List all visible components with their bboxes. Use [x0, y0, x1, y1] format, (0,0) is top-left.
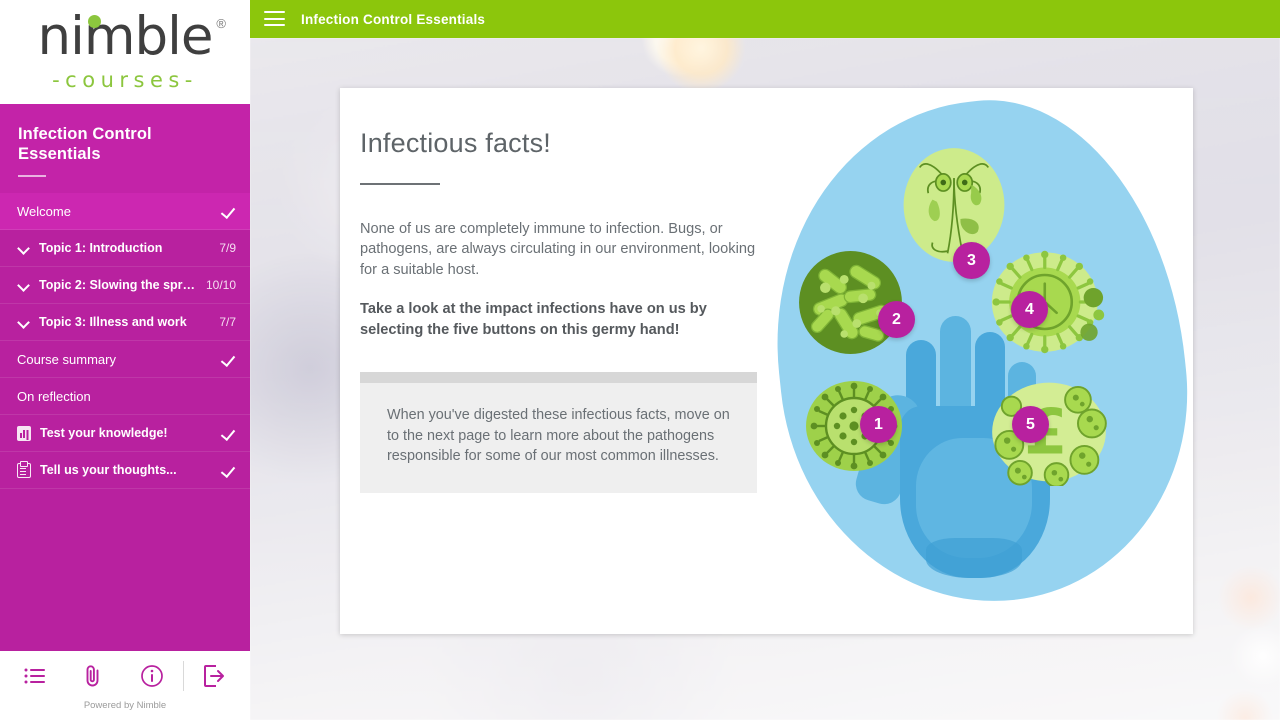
sidebar-item-label: Test your knowledge!: [40, 426, 214, 440]
hotspot-button-3[interactable]: 3: [953, 242, 990, 279]
sidebar-item-tell-us-your-thoughts[interactable]: Tell us your thoughts...: [0, 452, 250, 489]
hotspot-button-4[interactable]: 4: [1011, 291, 1048, 328]
chevron-down-icon[interactable]: [17, 241, 31, 255]
sidebar-item-progress: 7/7: [219, 315, 236, 329]
sidebar: nimble ® -courses- Infection Control Ess…: [0, 0, 250, 720]
sidebar-item-topic-3-illness-and-work[interactable]: Topic 3: Illness and work7/7: [0, 304, 250, 341]
sidebar-item-progress: 10/10: [206, 278, 236, 292]
parasite-face-germ: [900, 146, 1008, 264]
sidebar-item-label: On reflection: [17, 389, 236, 404]
sidebar-item-topic-2-slowing-the-spread[interactable]: Topic 2: Slowing the spread10/10: [0, 267, 250, 304]
footer-divider: [183, 661, 184, 691]
sidebar-item-label: Tell us your thoughts...: [40, 463, 214, 477]
brand-logo[interactable]: nimble ® -courses-: [0, 0, 250, 104]
content-card: Infectious facts! None of us are complet…: [340, 88, 1193, 634]
course-navigation: WelcomeTopic 1: Introduction7/9Topic 2: …: [0, 193, 250, 569]
clock-virus-germ: [988, 248, 1108, 356]
menu-list-icon[interactable]: [6, 651, 64, 701]
sidebar-item-label: Welcome: [17, 204, 214, 219]
logo-subtitle: -courses-: [22, 69, 228, 91]
sidebar-item-label: Course summary: [17, 352, 214, 367]
course-player: Infection Control Essentials nimble ® -c…: [0, 0, 1280, 720]
hamburger-icon[interactable]: [264, 11, 285, 27]
check-icon: [222, 352, 236, 366]
course-title: Infection Control Essentials: [18, 124, 232, 164]
card-illustration-column: £ 12345: [760, 88, 1193, 634]
palm-shade-lower: [926, 538, 1022, 578]
paperclip-icon[interactable]: [64, 651, 122, 701]
check-icon: [222, 463, 236, 477]
logo-wordmark: nimble: [22, 8, 228, 66]
sidebar-footer: Powered by Nimble: [0, 648, 250, 720]
callout-top-bar: [360, 372, 757, 383]
logo-registered-mark: ®: [216, 16, 226, 31]
hotspot-button-5[interactable]: 5: [1012, 406, 1049, 443]
info-icon[interactable]: [123, 651, 181, 701]
hotspot-button-1[interactable]: 1: [860, 406, 897, 443]
sidebar-item-course-summary[interactable]: Course summary: [0, 341, 250, 378]
chevron-down-icon[interactable]: [17, 315, 31, 329]
sidebar-item-welcome[interactable]: Welcome: [0, 193, 250, 230]
instruction-paragraph: Take a look at the impact infections hav…: [360, 299, 725, 340]
check-icon: [222, 426, 236, 440]
logo-dot-icon: [88, 15, 101, 28]
top-bar-title: Infection Control Essentials: [301, 12, 485, 27]
sidebar-item-label: Topic 2: Slowing the spread: [39, 278, 200, 292]
card-text-column: Infectious facts! None of us are complet…: [340, 88, 760, 634]
sidebar-item-label: Topic 3: Illness and work: [39, 315, 213, 329]
exit-icon[interactable]: [186, 651, 244, 701]
clipboard-icon: [17, 463, 31, 478]
sidebar-item-topic-1-introduction[interactable]: Topic 1: Introduction7/9: [0, 230, 250, 267]
chart-icon: [17, 426, 31, 441]
course-header: Infection Control Essentials: [0, 104, 250, 193]
powered-by-label: Powered by Nimble: [0, 700, 250, 711]
sidebar-item-on-reflection[interactable]: On reflection: [0, 378, 250, 415]
callout-text: When you've digested these infectious fa…: [360, 383, 757, 493]
callout-box: When you've digested these infectious fa…: [360, 372, 757, 493]
pound-cost-germ: £: [990, 378, 1108, 486]
check-icon: [222, 204, 236, 218]
course-title-rule: [18, 175, 46, 177]
title-rule: [360, 183, 440, 185]
sidebar-item-test-your-knowledge[interactable]: Test your knowledge!: [0, 415, 250, 452]
sidebar-item-label: Topic 1: Introduction: [39, 241, 213, 255]
hotspot-button-2[interactable]: 2: [878, 301, 915, 338]
sidebar-filler: [0, 569, 250, 649]
sidebar-item-progress: 7/9: [219, 241, 236, 255]
chevron-down-icon[interactable]: [17, 278, 31, 292]
page-title: Infectious facts!: [360, 128, 760, 159]
top-bar: Infection Control Essentials: [250, 0, 1280, 38]
intro-paragraph: None of us are completely immune to infe…: [360, 219, 758, 281]
